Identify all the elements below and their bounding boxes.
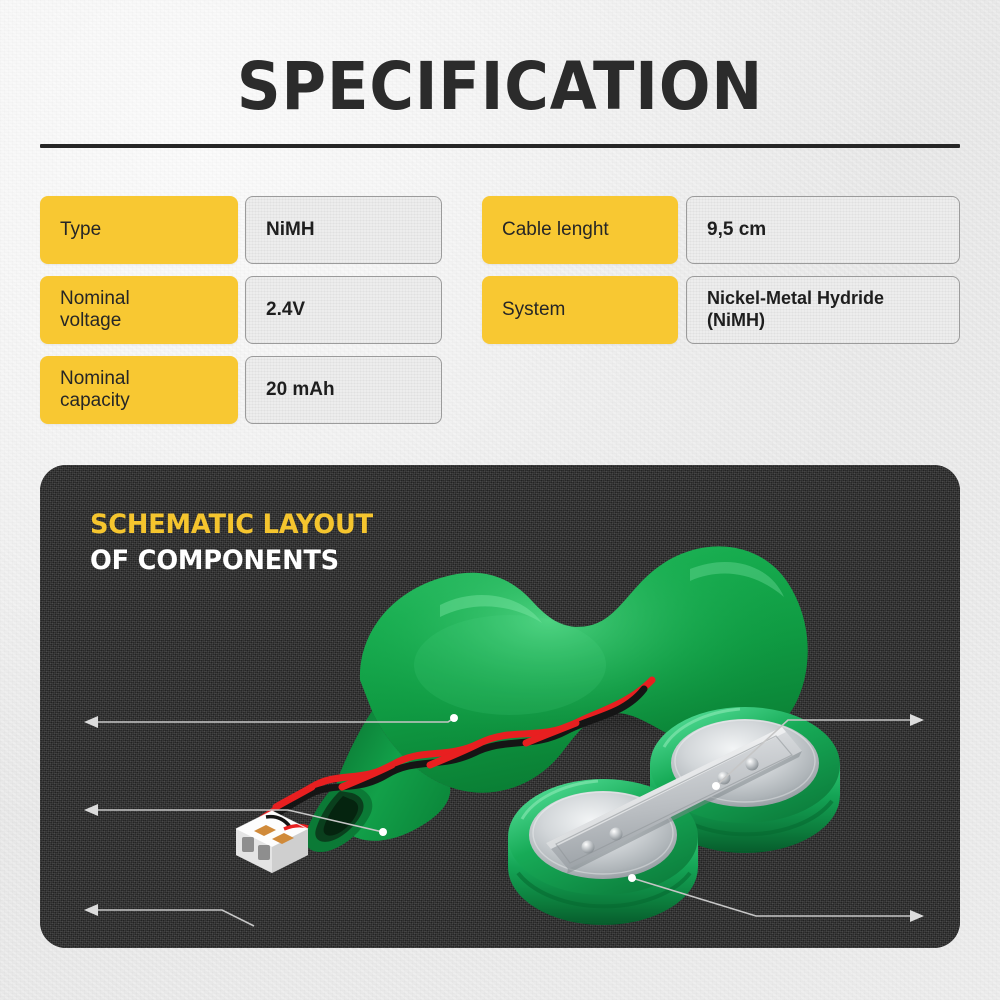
table-row: Type NiMH bbox=[40, 196, 442, 264]
spec-key-nominal-voltage: Nominal voltage bbox=[40, 276, 238, 344]
connector-pin-slot bbox=[258, 845, 270, 860]
table-row: Nominal voltage 2.4V bbox=[40, 276, 442, 344]
product-illustration bbox=[40, 465, 960, 948]
connector bbox=[236, 811, 308, 873]
spec-value-nominal-voltage: 2.4V bbox=[245, 276, 442, 344]
schematic-layout-panel: SCHEMATIC LAYOUT OF COMPONENTS bbox=[40, 465, 960, 948]
table-row: Cable lenght 9,5 cm bbox=[482, 196, 960, 264]
spec-key-cable-lenght: Cable lenght bbox=[482, 196, 678, 264]
table-row: Nominal capacity 20 mAh bbox=[40, 356, 442, 424]
title-divider bbox=[40, 144, 960, 148]
page-title: SPECIFICATION bbox=[40, 48, 960, 125]
weld-dot bbox=[582, 841, 595, 854]
spec-value-cable-lenght: 9,5 cm bbox=[686, 196, 960, 264]
spec-sheet-page: SPECIFICATION Type NiMH Nominal voltage … bbox=[0, 0, 1000, 1000]
spec-table-left-column: Type NiMH Nominal voltage 2.4V Nominal c… bbox=[40, 196, 442, 436]
spec-key-type: Type bbox=[40, 196, 238, 264]
spec-value-nominal-capacity: 20 mAh bbox=[245, 356, 442, 424]
connector-pin-slot bbox=[242, 837, 254, 852]
table-row: System Nickel-Metal Hydride (NiMH) bbox=[482, 276, 960, 344]
spec-value-system: Nickel-Metal Hydride (NiMH) bbox=[686, 276, 960, 344]
weld-dot bbox=[610, 828, 623, 841]
weld-dot bbox=[718, 772, 731, 785]
spec-key-nominal-capacity: Nominal capacity bbox=[40, 356, 238, 424]
spec-table-right-column: Cable lenght 9,5 cm System Nickel-Metal … bbox=[482, 196, 960, 356]
spec-value-type: NiMH bbox=[245, 196, 442, 264]
spec-key-system: System bbox=[482, 276, 678, 344]
weld-dot bbox=[746, 758, 759, 771]
